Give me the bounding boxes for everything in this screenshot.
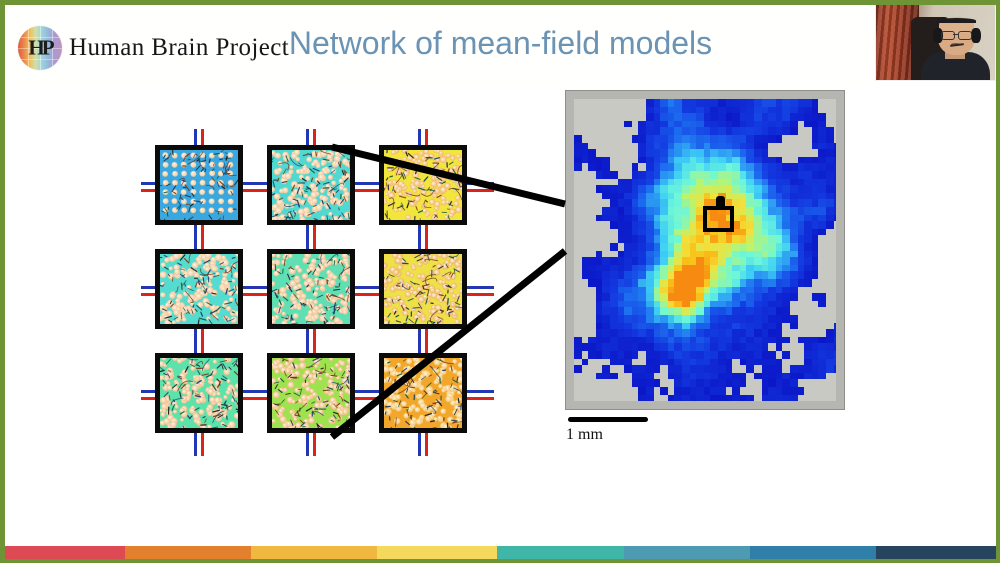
tile-r3c1[interactable] <box>155 353 243 433</box>
tile-r2c1[interactable] <box>155 249 243 329</box>
tile-r3c2[interactable] <box>267 353 355 433</box>
frame-left <box>0 0 5 563</box>
tile-r1c3-texture <box>384 150 462 220</box>
tile-r3c3-texture <box>384 358 462 428</box>
zoom-callout-lines <box>5 85 996 530</box>
slide-body: 1 mm <box>5 85 996 530</box>
frame-right <box>996 0 1000 563</box>
vsd-heatmap <box>574 99 836 401</box>
frame-bottom <box>0 559 1000 563</box>
strip-segment-1 <box>5 546 125 559</box>
strip-segment-3 <box>251 546 377 559</box>
slide-root: HP Human Brain Project Network of mean-f… <box>0 0 1000 563</box>
tile-r3c3[interactable] <box>379 353 467 433</box>
tile-r2c3[interactable] <box>379 249 467 329</box>
strip-segment-6 <box>624 546 750 559</box>
tile-r3c2-texture <box>272 358 350 428</box>
network-of-mean-field-models <box>155 145 480 440</box>
strip-segment-4 <box>377 546 497 559</box>
frame-top <box>0 0 1000 5</box>
tile-r1c2[interactable] <box>267 145 355 225</box>
footer-color-strip <box>5 546 996 559</box>
slide-header: HP Human Brain Project Network of mean-f… <box>5 5 996 85</box>
tile-r1c2-texture <box>272 150 350 220</box>
scale-bar <box>568 417 648 422</box>
tile-r1c1[interactable] <box>155 145 243 225</box>
strip-segment-7 <box>750 546 876 559</box>
scale-bar-label: 1 mm <box>566 426 683 444</box>
page-title: Network of mean-field models <box>5 25 996 62</box>
vsd-activity-map <box>565 90 845 410</box>
tile-r2c1-texture <box>160 254 238 324</box>
vsd-frame <box>565 90 845 410</box>
strip-segment-2 <box>125 546 251 559</box>
presenter-webcam[interactable] <box>875 4 996 81</box>
strip-segment-8 <box>876 546 996 559</box>
vsd-canvas <box>574 99 836 401</box>
headphones-icon <box>937 18 976 23</box>
scale-bar-group: 1 mm <box>563 417 683 444</box>
tile-r3c1-texture <box>160 358 238 428</box>
strip-segment-5 <box>497 546 623 559</box>
region-of-interest-box[interactable] <box>703 206 734 232</box>
tile-r2c2[interactable] <box>267 249 355 329</box>
tile-r1c1-texture <box>160 150 238 220</box>
tile-r1c3[interactable] <box>379 145 467 225</box>
tile-r2c3-texture <box>384 254 462 324</box>
tile-r2c2-texture <box>272 254 350 324</box>
